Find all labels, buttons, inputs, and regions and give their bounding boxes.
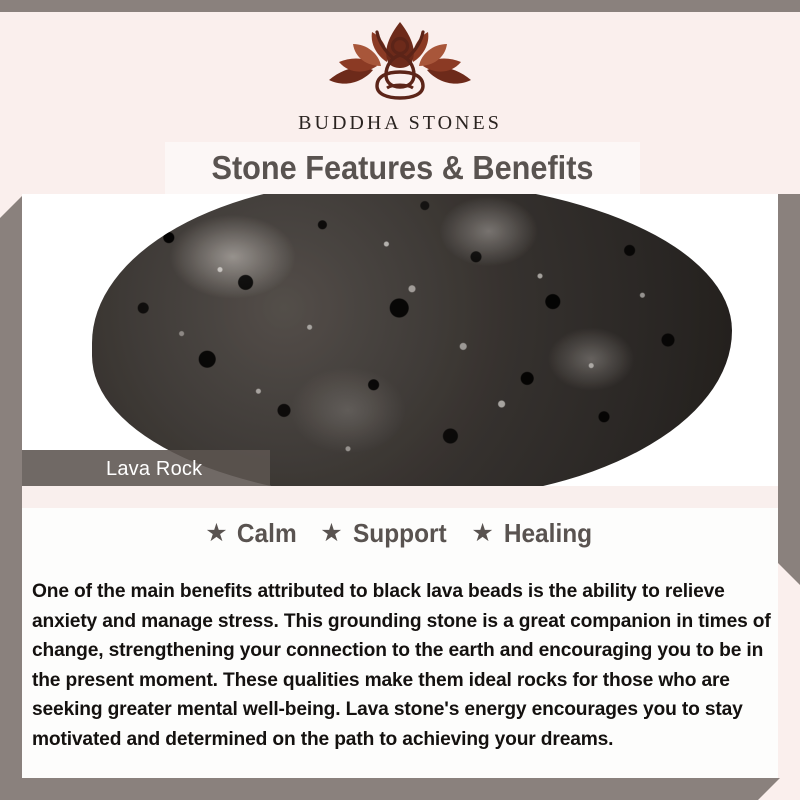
stone-caption-label: Lava Rock [106, 458, 202, 481]
lava-rock-photo [92, 194, 732, 486]
benefit-label-calm: Calm [237, 518, 297, 549]
lotus-meditating-figure-icon [315, 18, 485, 110]
stone-caption-bar: Lava Rock [22, 450, 270, 488]
star-icon: ★ [205, 521, 227, 546]
brand-header: BUDDHA STONES [0, 12, 800, 142]
frame-top-border [0, 0, 800, 12]
star-icon: ★ [471, 521, 493, 546]
frame-left-border [0, 196, 22, 780]
brand-name: BUDDHA STONES [0, 112, 800, 135]
infographic-page: BUDDHA STONES Stone Features & Benefits … [0, 0, 800, 800]
brand-logo: BUDDHA STONES [0, 18, 800, 135]
star-icon: ★ [320, 521, 342, 546]
title-banner: Stone Features & Benefits [0, 142, 800, 194]
benefit-item-healing: ★ Healing [471, 518, 594, 549]
benefit-label-support: Support [353, 518, 447, 549]
benefit-item-support: ★ Support [320, 518, 449, 549]
content-panel: ★ Calm ★ Support ★ Healing One of the ma… [22, 508, 778, 778]
lava-rock-speckle-texture [92, 194, 732, 486]
frame-bottom-border [0, 778, 780, 800]
hero-image [22, 194, 778, 486]
page-title: Stone Features & Benefits [182, 142, 624, 194]
benefit-label-healing: Healing [504, 518, 592, 549]
benefits-row: ★ Calm ★ Support ★ Healing [22, 518, 778, 549]
section-divider [22, 486, 778, 508]
benefits-description: One of the main benefits attributed to b… [32, 577, 776, 754]
benefit-item-calm: ★ Calm [205, 518, 298, 549]
